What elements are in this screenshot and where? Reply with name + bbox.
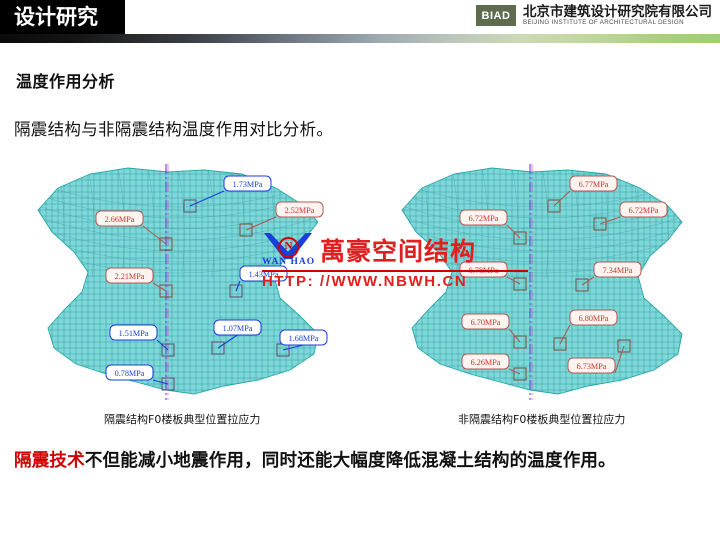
biad-logo: BIAD 北京市建筑设计研究院有限公司 BEIJING INSTITUTE OF… bbox=[476, 5, 712, 27]
stress-value-label: 6.72MPa bbox=[629, 206, 659, 215]
figure-row: 1.73MPa2.52MPa2.66MPa2.21MPa1.43MPa1.51M… bbox=[0, 158, 720, 408]
conclusion-highlight: 隔震技术 bbox=[14, 451, 85, 471]
biad-company-en: BEIJING INSTITUTE OF ARCHITECTURAL DESIG… bbox=[523, 20, 712, 27]
conclusion-rest: 不但能减小地震作用，同时还能大幅度降低混凝土结构的温度作用。 bbox=[85, 451, 616, 471]
fe-mesh-plot: 6.77MPa6.72MPa6.72MPa6.78MPa7.34MPa6.70M… bbox=[382, 158, 712, 406]
stress-value-label: 6.70MPa bbox=[471, 318, 501, 327]
stress-value-label: 6.73MPa bbox=[577, 362, 607, 371]
biad-company-cn: 北京市建筑设计研究院有限公司 bbox=[523, 5, 712, 19]
stress-value-label: 7.34MPa bbox=[603, 266, 633, 275]
section-title: 温度作用分析 bbox=[16, 68, 115, 92]
stress-value-label: 6.77MPa bbox=[579, 180, 609, 189]
stress-value-label: 2.66MPa bbox=[105, 215, 135, 224]
stress-value-label: 0.78MPa bbox=[115, 369, 145, 378]
stress-value-label: 6.78MPa bbox=[469, 266, 499, 275]
section-lead-text: 隔震结构与非隔震结构温度作用对比分析。 bbox=[14, 116, 333, 140]
stress-value-label: 1.43MPa bbox=[249, 270, 279, 279]
stress-value-label: 6.26MPa bbox=[471, 358, 501, 367]
fe-mesh-plot: 1.73MPa2.52MPa2.66MPa2.21MPa1.43MPa1.51M… bbox=[18, 158, 348, 406]
stress-value-label: 1.68MPa bbox=[289, 334, 319, 343]
stress-value-label: 2.21MPa bbox=[115, 272, 145, 281]
stress-value-label: 6.72MPa bbox=[469, 214, 499, 223]
stress-value-label: 6.80MPa bbox=[579, 314, 609, 323]
figure-caption-non-isolated: 非隔震结构F0楼板典型位置拉应力 bbox=[458, 411, 625, 427]
figure-non-isolated-structure: 6.77MPa6.72MPa6.72MPa6.78MPa7.34MPa6.70M… bbox=[382, 158, 712, 406]
stress-value-label: 1.51MPa bbox=[119, 329, 149, 338]
stress-value-label: 1.07MPa bbox=[223, 324, 253, 333]
page-title: 设计研究 bbox=[14, 3, 98, 31]
figure-isolated-structure: 1.73MPa2.52MPa2.66MPa2.21MPa1.43MPa1.51M… bbox=[18, 158, 348, 406]
page-header: 设计研究 BIAD 北京市建筑设计研究院有限公司 BEIJING INSTITU… bbox=[0, 0, 720, 34]
biad-logo-texts: 北京市建筑设计研究院有限公司 BEIJING INSTITUTE OF ARCH… bbox=[523, 5, 712, 27]
figure-caption-isolated: 隔震结构F0楼板典型位置拉应力 bbox=[104, 411, 260, 427]
biad-mark: BIAD bbox=[476, 5, 516, 26]
conclusion-text: 隔震技术不但能减小地震作用，同时还能大幅度降低混凝土结构的温度作用。 bbox=[14, 447, 616, 472]
stress-value-label: 1.73MPa bbox=[233, 180, 263, 189]
stress-value-label: 2.52MPa bbox=[285, 206, 315, 215]
header-gradient-rule bbox=[0, 34, 720, 43]
